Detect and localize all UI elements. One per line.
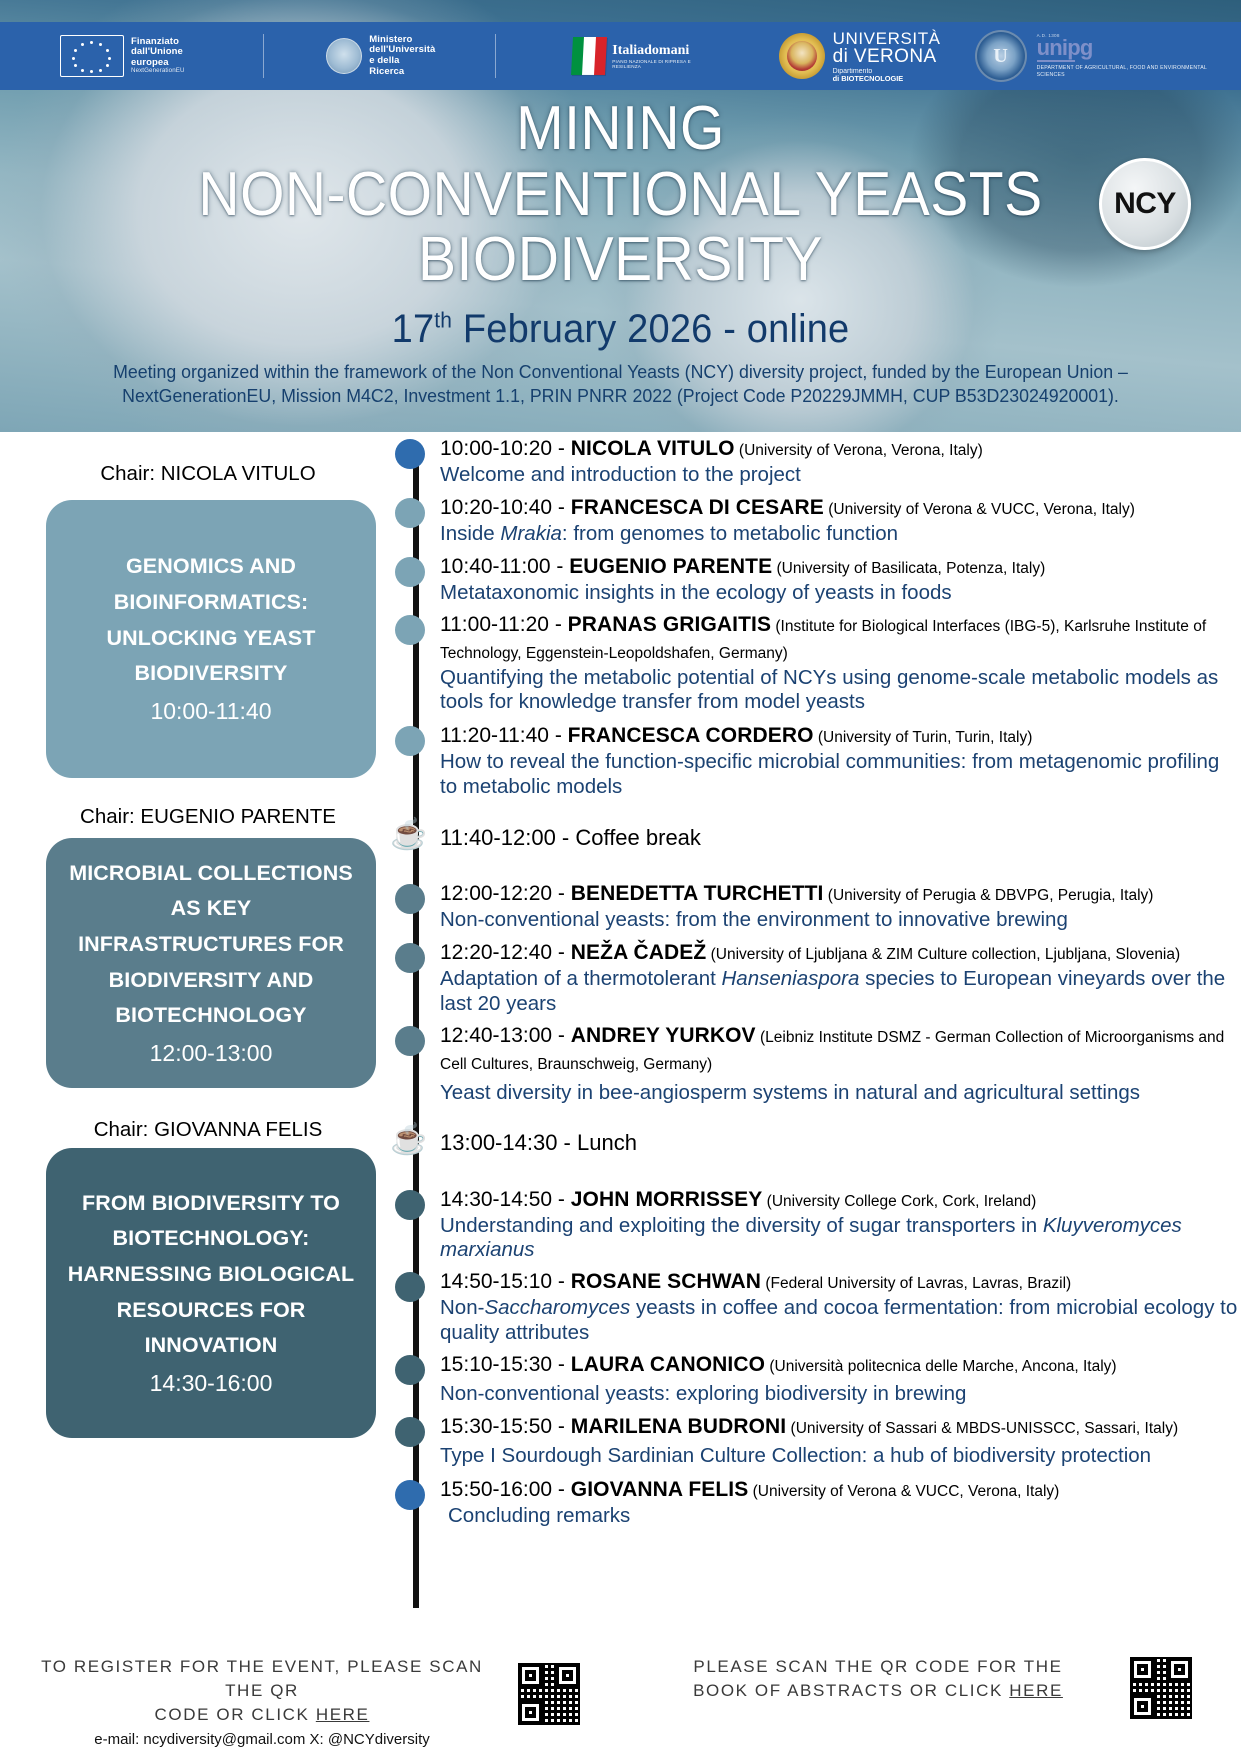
register-here-link[interactable]: HERE xyxy=(316,1705,370,1724)
italiadomani-wordmark: Italiadomani xyxy=(612,43,706,59)
talk-affiliation: (Federal University of Lavras, Lavras, B… xyxy=(761,1275,1071,1292)
abstracts-line2-text: BOOK OF ABSTRACTS OR CLICK xyxy=(693,1681,1009,1700)
verona-line1: UNIVERSITÀ xyxy=(833,30,941,47)
funding-description: Meeting organized within the framework o… xyxy=(100,360,1142,407)
session-box-1: GENOMICS AND BIOINFORMATICS: UNLOCKING Y… xyxy=(46,500,376,778)
session-column: Chair: NICOLA VITULO GENOMICS AND BIOINF… xyxy=(0,432,400,1647)
unipg-seal-icon: U xyxy=(975,30,1027,82)
poster-title-line3: BIODIVERSITY xyxy=(50,227,1192,293)
abstracts-line2: BOOK OF ABSTRACTS OR CLICK HERE xyxy=(640,1679,1116,1703)
event-date-rest: February 2026 - online xyxy=(452,307,849,351)
talk-title-italic: Saccharomyces xyxy=(484,1296,630,1319)
poster-title-line1: MINING xyxy=(50,96,1192,162)
sponsor-logo-bar: Finanziato dall'Unione europea NextGener… xyxy=(0,22,1241,90)
talk-item[interactable]: 10:00-10:20 - NICOLA VITULO (University … xyxy=(396,436,1241,488)
talk-headline: 10:40-11:00 - EUGENIO PARENTE (Universit… xyxy=(440,554,1241,580)
talk-title: Quantifying the metabolic potential of N… xyxy=(440,666,1241,716)
eu-logo-line3: NextGenerationEU xyxy=(131,68,207,75)
university-of-verona-logo: UNIVERSITÀ di VERONA Dipartimento di BIO… xyxy=(779,22,941,90)
talk-headline: 14:50-15:10 - ROSANE SCHWAN (Federal Uni… xyxy=(440,1269,1241,1295)
talk-item[interactable]: 10:20-10:40 - FRANCESCA DI CESARE (Unive… xyxy=(396,495,1241,547)
talk-item[interactable]: 12:20-12:40 - NEŽA ČADEŽ (University of … xyxy=(396,940,1241,1017)
talk-item[interactable]: 11:20-11:40 - FRANCESCA CORDERO (Univers… xyxy=(396,723,1241,800)
talk-title: Non-conventional yeasts: exploring biodi… xyxy=(440,1382,1241,1407)
timeline-dot xyxy=(395,557,425,587)
talk-headline: 14:30-14:50 - JOHN MORRISSEY (University… xyxy=(440,1187,1241,1213)
talk-speaker: PRANAS GRIGAITIS xyxy=(568,613,771,636)
talk-speaker: JOHN MORRISSEY xyxy=(571,1188,763,1211)
talk-speaker: GIOVANNA FELIS xyxy=(571,1478,749,1501)
schedule-area: Chair: NICOLA VITULO GENOMICS AND BIOINF… xyxy=(0,432,1241,1647)
talk-headline: 12:20-12:40 - NEŽA ČADEŽ (University of … xyxy=(440,940,1241,966)
talk-affiliation: (University of Perugia & DBVPG, Perugia,… xyxy=(824,887,1154,904)
talk-item[interactable]: 12:40-13:00 - ANDREY YURKOV (Leibniz Ins… xyxy=(396,1023,1241,1105)
logo-divider-1 xyxy=(263,34,264,78)
talk-time: 12:40-13:00 - xyxy=(440,1024,571,1047)
ncy-badge-label: NCY xyxy=(1114,187,1176,221)
verona-line2: di VERONA xyxy=(833,47,941,66)
abstracts-block: PLEASE SCAN THE QR CODE FOR THE BOOK OF … xyxy=(640,1655,1220,1719)
verona-line4: di BIOTECNOLOGIE xyxy=(833,75,941,82)
talk-speaker: ROSANE SCHWAN xyxy=(571,1270,761,1293)
talk-speaker: NEŽA ČADEŽ xyxy=(571,941,707,964)
title-block: MINING NON-CONVENTIONAL YEASTS BIODIVERS… xyxy=(0,96,1241,352)
talk-speaker: MARILENA BUDRONI xyxy=(571,1415,786,1438)
unipg-wordmark: unipg xyxy=(1037,38,1211,58)
poster-footer: TO REGISTER FOR THE EVENT, PLEASE SCAN T… xyxy=(0,1655,1241,1755)
eu-flag-icon xyxy=(60,35,124,77)
timeline-dot xyxy=(395,884,425,914)
talk-headline: 15:50-16:00 - GIOVANNA FELIS (University… xyxy=(440,1477,1241,1503)
talk-item[interactable]: 15:50-16:00 - GIOVANNA FELIS (University… xyxy=(396,1477,1241,1529)
talk-item[interactable]: 12:00-12:20 - BENEDETTA TURCHETTI (Unive… xyxy=(396,881,1241,933)
break-item: ☕ 11:40-12:00 - Coffee break xyxy=(396,824,1241,851)
coffee-cup-icon: ☕ xyxy=(390,1125,427,1155)
eu-logo-line2: dall'Unione europea xyxy=(131,47,207,68)
register-line2-text: CODE OR CLICK xyxy=(155,1705,316,1724)
event-date-ordinal: th xyxy=(434,308,452,333)
talk-title: Non-conventional yeasts: from the enviro… xyxy=(440,908,1241,933)
talk-title: Concluding remarks xyxy=(448,1504,1241,1529)
timeline-dot xyxy=(395,1190,425,1220)
abstracts-qr-code[interactable] xyxy=(1130,1657,1192,1719)
talk-title-italic: Mrakia xyxy=(500,522,562,545)
talk-title: Inside Mrakia: from genomes to metabolic… xyxy=(440,522,1241,547)
talk-title: Type I Sourdough Sardinian Culture Colle… xyxy=(440,1444,1241,1469)
talk-item[interactable]: 14:30-14:50 - JOHN MORRISSEY (University… xyxy=(396,1187,1241,1264)
timeline-dot xyxy=(395,615,425,645)
talk-time: 15:30-15:50 - xyxy=(440,1415,571,1438)
talk-affiliation: (University of Verona & VUCC, Verona, It… xyxy=(748,1483,1059,1500)
talk-title: Welcome and introduction to the project xyxy=(440,463,1241,488)
session-time-2: 12:00-13:00 xyxy=(150,1036,273,1071)
timeline-dot xyxy=(395,439,425,469)
talk-time: 10:20-10:40 - xyxy=(440,496,571,519)
talk-affiliation: (University of Verona & VUCC, Verona, It… xyxy=(824,501,1135,518)
timeline-dot xyxy=(395,1480,425,1510)
talk-time: 14:30-14:50 - xyxy=(440,1188,571,1211)
registration-qr-code[interactable] xyxy=(518,1663,580,1725)
talk-time: 15:10-15:30 - xyxy=(440,1353,571,1376)
session-time-3: 14:30-16:00 xyxy=(150,1366,273,1401)
talk-speaker: NICOLA VITULO xyxy=(571,437,735,460)
unipg-logo: U A.D. 1308 unipg DEPARTMENT OF AGRICULT… xyxy=(975,22,1211,90)
poster-title-line2: NON-CONVENTIONAL YEASTS xyxy=(50,162,1192,228)
event-date-day: 17 xyxy=(392,307,435,351)
talk-headline: 15:10-15:30 - LAURA CANONICO (Università… xyxy=(440,1352,1241,1378)
session-chair-1: Chair: NICOLA VITULO xyxy=(38,462,378,486)
session-time-1: 10:00-11:40 xyxy=(150,694,271,729)
talk-item[interactable]: 11:00-11:20 - PRANAS GRIGAITIS (Institut… xyxy=(396,612,1241,715)
republic-emblem-icon xyxy=(326,38,362,74)
talk-speaker: EUGENIO PARENTE xyxy=(569,555,772,578)
talk-time: 10:00-10:20 - xyxy=(440,437,571,460)
session-name-1: GENOMICS AND BIOINFORMATICS: UNLOCKING Y… xyxy=(62,549,360,692)
talk-speaker: FRANCESCA DI CESARE xyxy=(571,496,824,519)
abstracts-line1: PLEASE SCAN THE QR CODE FOR THE xyxy=(640,1655,1116,1679)
talk-affiliation: (University of Verona, Verona, Italy) xyxy=(735,442,983,459)
talk-speaker: FRANCESCA CORDERO xyxy=(568,724,814,747)
talk-affiliation: (Università politecnica delle Marche, An… xyxy=(765,1358,1117,1375)
talk-title-italic: Hanseniaspora xyxy=(722,967,860,990)
talk-time: 10:40-11:00 - xyxy=(440,555,569,578)
coffee-cup-icon: ☕ xyxy=(390,820,427,850)
talk-time: 15:50-16:00 - xyxy=(440,1478,571,1501)
eu-funding-logo: Finanziato dall'Unione europea NextGener… xyxy=(60,22,207,90)
unipg-rule xyxy=(1037,60,1075,62)
session-chair-3: Chair: GIOVANNA FELIS xyxy=(38,1118,378,1142)
talk-title: Metataxonomic insights in the ecology of… xyxy=(440,581,1241,606)
session-name-2: MICROBIAL COLLECTIONS AS KEY INFRASTRUCT… xyxy=(62,856,360,1034)
mur-logo: Ministero dell'Università e della Ricerc… xyxy=(326,22,435,90)
register-line1: TO REGISTER FOR THE EVENT, PLEASE SCAN T… xyxy=(20,1655,504,1703)
break-item: ☕ 13:00-14:30 - Lunch xyxy=(396,1129,1241,1156)
break-label: 13:00-14:30 - Lunch xyxy=(440,1129,1241,1156)
italiadomani-subtitle: PIANO NAZIONALE DI RIPRESA E RESILIENZA xyxy=(612,59,706,69)
abstracts-here-link[interactable]: HERE xyxy=(1009,1681,1063,1700)
talk-headline: 11:20-11:40 - FRANCESCA CORDERO (Univers… xyxy=(440,723,1241,749)
talk-title-pre: Inside xyxy=(440,522,500,545)
talk-speaker: BENEDETTA TURCHETTI xyxy=(571,882,824,905)
talk-title-pre: Non- xyxy=(440,1296,484,1319)
talk-headline: 12:00-12:20 - BENEDETTA TURCHETTI (Unive… xyxy=(440,881,1241,907)
verona-line3: Dipartimento xyxy=(833,68,941,75)
talk-speaker: ANDREY YURKOV xyxy=(571,1024,756,1047)
session-chair-2: Chair: EUGENIO PARENTE xyxy=(38,805,378,829)
mur-logo-line3: e della Ricerca xyxy=(369,56,435,77)
talk-item[interactable]: 15:10-15:30 - LAURA CANONICO (Università… xyxy=(396,1352,1241,1407)
register-block: TO REGISTER FOR THE EVENT, PLEASE SCAN T… xyxy=(20,1655,580,1748)
talk-item[interactable]: 15:30-15:50 - MARILENA BUDRONI (Universi… xyxy=(396,1414,1241,1469)
talk-affiliation: (University of Turin, Turin, Italy) xyxy=(814,729,1033,746)
break-label: 11:40-12:00 - Coffee break xyxy=(440,824,1241,851)
session-name-3: FROM BIODIVERSITY TO BIOTECHNOLOGY: HARN… xyxy=(62,1186,360,1364)
timeline-dot xyxy=(395,1417,425,1447)
talk-time: 12:00-12:20 - xyxy=(440,882,571,905)
talk-headline: 10:00-10:20 - NICOLA VITULO (University … xyxy=(440,436,1241,462)
talk-title: Adaptation of a thermotolerant Hansenias… xyxy=(440,967,1241,1017)
timeline-dot xyxy=(395,943,425,973)
session-box-2: MICROBIAL COLLECTIONS AS KEY INFRASTRUCT… xyxy=(46,838,376,1088)
talk-affiliation: (University of Ljubljana & ZIM Culture c… xyxy=(706,946,1180,963)
talk-time: 12:20-12:40 - xyxy=(440,941,571,964)
talk-item[interactable]: 10:40-11:00 - EUGENIO PARENTE (Universit… xyxy=(396,554,1241,606)
talk-time: 11:20-11:40 - xyxy=(440,724,568,747)
talk-headline: 10:20-10:40 - FRANCESCA DI CESARE (Unive… xyxy=(440,495,1241,521)
talk-headline: 12:40-13:00 - ANDREY YURKOV (Leibniz Ins… xyxy=(440,1023,1241,1075)
talk-affiliation: (University of Basilicata, Potenza, Ital… xyxy=(772,560,1045,577)
ncy-logo-badge: NCY xyxy=(1099,158,1191,250)
italiadomani-logo: Italiadomani PIANO NAZIONALE DI RIPRESA … xyxy=(572,22,706,90)
timeline-dot xyxy=(395,1355,425,1385)
talk-title: How to reveal the function-specific micr… xyxy=(440,750,1241,800)
talk-item[interactable]: 14:50-15:10 - ROSANE SCHWAN (Federal Uni… xyxy=(396,1269,1241,1346)
italy-flag-icon xyxy=(571,37,607,75)
talk-title: Yeast diversity in bee-angiosperm system… xyxy=(440,1081,1241,1106)
verona-seal-icon xyxy=(779,33,825,79)
talk-headline: 11:00-11:20 - PRANAS GRIGAITIS (Institut… xyxy=(440,612,1241,664)
timeline-dot xyxy=(395,1272,425,1302)
talk-headline: 15:30-15:50 - MARILENA BUDRONI (Universi… xyxy=(440,1414,1241,1440)
logo-divider-2 xyxy=(495,34,496,78)
talk-affiliation: (University of Sassari & MBDS-UNISSCC, S… xyxy=(786,1420,1178,1437)
talk-title: Understanding and exploiting the diversi… xyxy=(440,1214,1241,1264)
talk-speaker: LAURA CANONICO xyxy=(571,1353,765,1376)
talk-list: 10:00-10:20 - NICOLA VITULO (University … xyxy=(396,432,1241,1531)
talk-affiliation: (University College Cork, Cork, Ireland) xyxy=(762,1193,1036,1210)
talk-title: Non-Saccharomyces yeasts in coffee and c… xyxy=(440,1296,1241,1346)
talk-title-post: : from genomes to metabolic function xyxy=(562,522,898,545)
poster-header: Finanziato dall'Unione europea NextGener… xyxy=(0,0,1241,432)
timeline-dot xyxy=(395,726,425,756)
unipg-department: DEPARTMENT OF AGRICULTURAL, FOOD AND ENV… xyxy=(1037,65,1211,79)
register-line2: CODE OR CLICK HERE xyxy=(20,1703,504,1727)
talk-time: 11:00-11:20 - xyxy=(440,613,568,636)
talk-title-pre: Adaptation of a thermotolerant xyxy=(440,967,722,990)
contact-line: e-mail: ncydiversity@gmail.com X: @NCYdi… xyxy=(20,1731,504,1748)
timeline-dot xyxy=(395,498,425,528)
timeline-dot xyxy=(395,1026,425,1056)
talk-title-pre: Understanding and exploiting the diversi… xyxy=(440,1214,1043,1237)
talk-time: 14:50-15:10 - xyxy=(440,1270,571,1293)
event-date: 17th February 2026 - online xyxy=(31,307,1210,352)
session-box-3: FROM BIODIVERSITY TO BIOTECHNOLOGY: HARN… xyxy=(46,1148,376,1438)
